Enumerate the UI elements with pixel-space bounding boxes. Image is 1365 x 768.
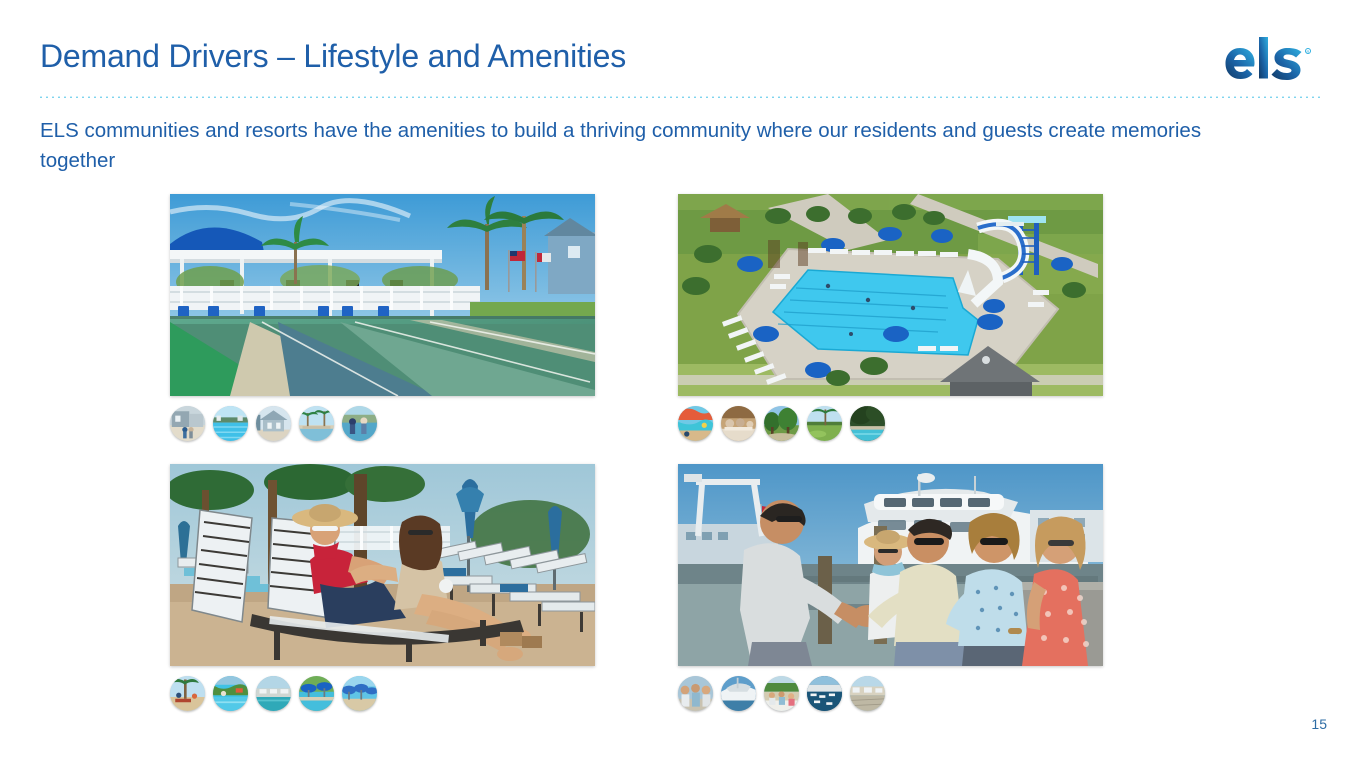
thumb-indoor-dining[interactable] — [721, 406, 756, 441]
thumb-nature-trail[interactable] — [764, 406, 799, 441]
thumb-aerial-marina[interactable] — [807, 676, 842, 711]
photo-aerial-pool-waterslide — [678, 194, 1103, 396]
thumb-palm-waterfront[interactable] — [299, 406, 334, 441]
thumbnail-strip-shuffleboard — [170, 406, 377, 441]
thumb-lagoon-pool[interactable] — [213, 676, 248, 711]
slide: Demand Drivers – Lifestyle and Amenities… — [0, 0, 1365, 768]
photo-beach-loungers — [170, 464, 595, 666]
photo-grid — [0, 0, 1365, 768]
thumb-resort-pool[interactable] — [213, 406, 248, 441]
thumb-cottage-home[interactable] — [256, 406, 291, 441]
page-number: 15 — [1311, 716, 1327, 732]
thumb-boat-bow[interactable] — [721, 676, 756, 711]
photo-cell-shuffleboard — [170, 194, 595, 396]
photo-cell-aerial-pool — [678, 194, 1103, 396]
thumb-group-gathering[interactable] — [678, 676, 713, 711]
thumb-water-activity[interactable] — [342, 406, 377, 441]
thumb-shaded-pool[interactable] — [850, 406, 885, 441]
thumb-waterfront-party[interactable] — [764, 676, 799, 711]
thumb-marina-docks[interactable] — [256, 676, 291, 711]
photo-cell-marina-handshake — [678, 464, 1103, 666]
thumb-rv-resort-entrance[interactable] — [170, 406, 205, 441]
thumb-golf-course[interactable] — [807, 406, 842, 441]
thumbnail-strip-beach-loungers — [170, 676, 377, 711]
thumbnail-strip-marina — [678, 676, 885, 711]
photo-cell-beach-loungers — [170, 464, 595, 666]
photo-shuffleboard-courts — [170, 194, 595, 396]
thumb-dock-boardwalk[interactable] — [850, 676, 885, 711]
thumb-poolside-umbrellas[interactable] — [299, 676, 334, 711]
thumbnail-strip-aerial-pool — [678, 406, 885, 441]
thumb-splash-pad[interactable] — [678, 406, 713, 441]
photo-marina-handshake — [678, 464, 1103, 666]
thumb-beach-picnic[interactable] — [170, 676, 205, 711]
thumb-beach-cabanas[interactable] — [342, 676, 377, 711]
